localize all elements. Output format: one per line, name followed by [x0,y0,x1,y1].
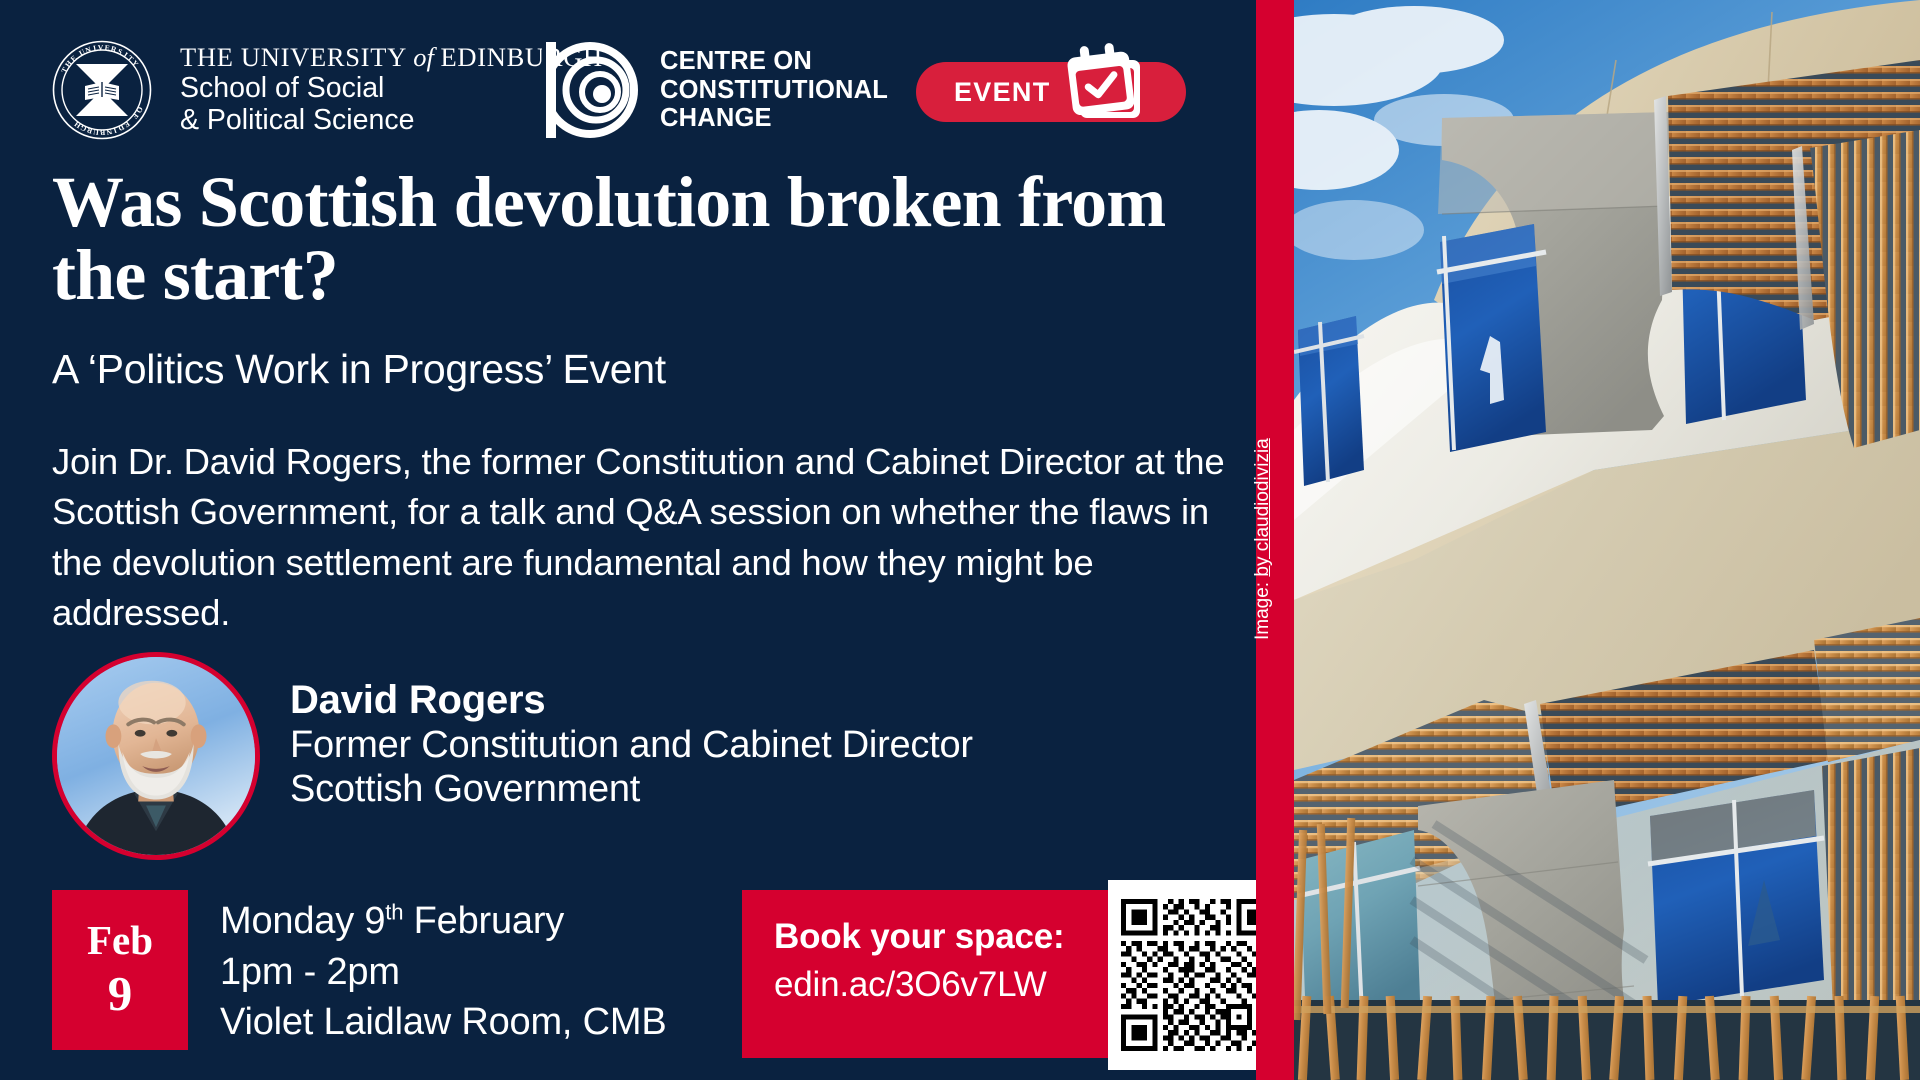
event-time: 1pm - 2pm [220,947,666,998]
university-wordmark: THE UNIVERSITY of EDINBURGH School of So… [180,43,603,136]
svg-text:I: I [92,43,97,52]
booking-url[interactable]: edin.ac/3O6v7LW [774,963,1114,1007]
event-poster: Image: by claudiodivizia T H E U N I [0,0,1920,1080]
image-credit-link[interactable]: by claudiodivizia [1252,438,1273,576]
centre-on-constitutional-change-logo: CENTRE ON CONSTITUTIONAL CHANGE [542,38,888,142]
event-date: Monday 9th February [220,896,666,947]
centre-name-line3: CHANGE [660,104,888,133]
event-badge-label: EVENT [954,77,1051,108]
centre-name-line2: CONSTITUTIONAL [660,76,888,105]
event-date-main: Monday 9 [220,900,385,942]
image-credit-prefix: Image: [1252,577,1273,640]
school-name-line2: & Political Science [180,105,603,137]
speaker-role-line1: Former Constitution and Cabinet Director [290,723,973,767]
date-badge: Feb 9 [52,890,188,1050]
event-date-ordinal: th [385,899,403,924]
svg-text:B: B [100,128,105,137]
university-logo: T H E U N I V E R S I T Y O F [52,38,603,142]
speaker-block: David Rogers Former Constitution and Cab… [52,652,973,860]
university-name: THE UNIVERSITY of EDINBURGH [180,43,603,72]
university-of-edinburgh-crest-icon: T H E U N I V E R S I T Y O F [52,40,152,140]
date-badge-day: 9 [108,967,133,1021]
event-description: Join Dr. David Rogers, the former Consti… [52,437,1227,638]
concentric-circles-logo-icon [542,42,638,138]
image-credit: Image: by claudiodivizia [1252,600,1274,646]
booking-heading: Book your space: [774,916,1114,958]
content-panel: T H E U N I V E R S I T Y O F [0,0,1256,1080]
event-date-month: February [403,900,564,942]
university-name-pre: THE UNIVERSITY [180,42,413,72]
event-series-subtitle: A ‘Politics Work in Progress’ Event [52,347,666,392]
svg-text:N: N [105,127,112,137]
university-name-of: of [413,42,440,72]
centre-name: CENTRE ON CONSTITUTIONAL CHANGE [660,47,888,133]
avatar [52,652,260,860]
school-name-line1: School of Social [180,73,603,105]
speaker-details: David Rogers Former Constitution and Cab… [290,652,973,812]
centre-name-line1: CENTRE ON [660,47,888,76]
school-name: School of Social & Political Science [180,73,603,137]
page-title: Was Scottish devolution broken from the … [52,166,1242,313]
booking-panel: Book your space: edin.ac/3O6v7LW [742,890,1114,1058]
building-photo [1294,0,1920,1080]
speaker-role-line2: Scottish Government [290,767,973,811]
date-badge-month: Feb [87,920,153,961]
event-details: Monday 9th February 1pm - 2pm Violet Lai… [220,896,666,1048]
calendar-check-icon [1060,38,1148,126]
qr-code-icon[interactable] [1121,899,1273,1051]
event-venue: Violet Laidlaw Room, CMB [220,997,666,1048]
svg-text:V: V [98,43,104,52]
speaker-name: David Rogers [290,678,973,723]
